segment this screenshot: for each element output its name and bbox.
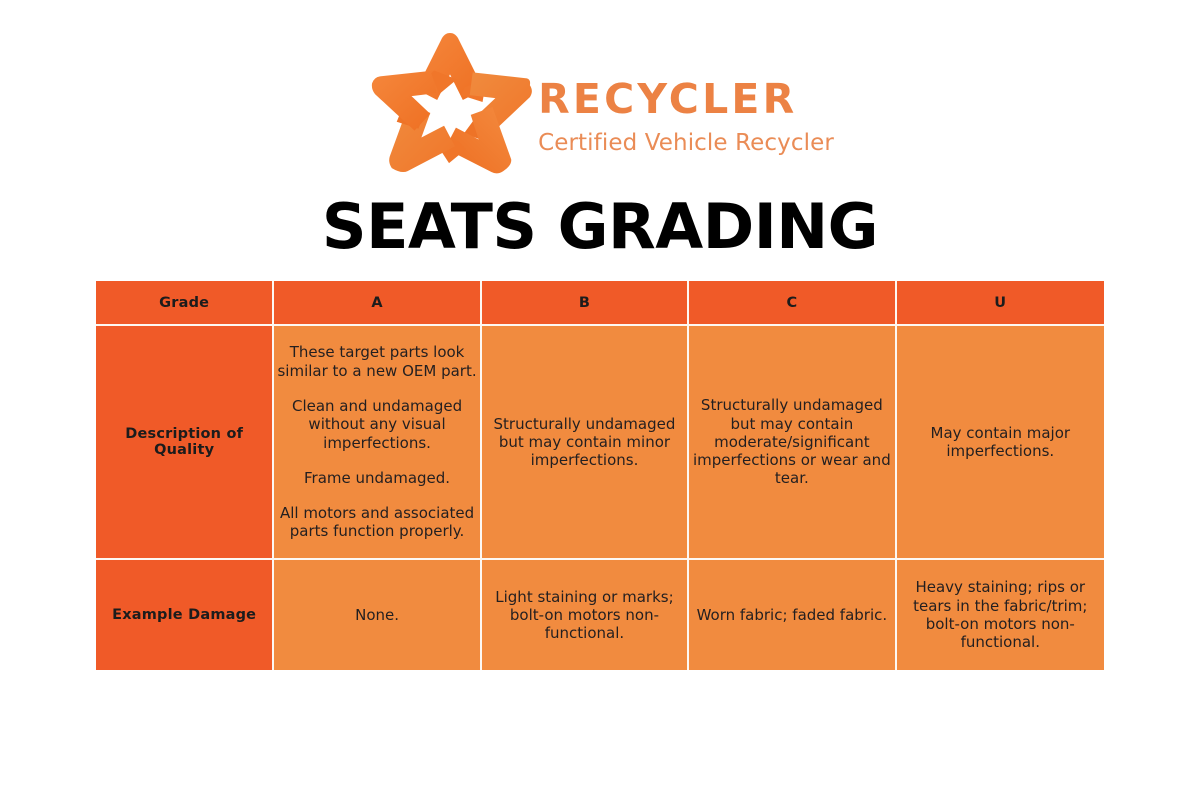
recycling-star-icon: [366, 30, 534, 176]
cell-paragraph: None.: [274, 606, 479, 624]
cell-description-b: Structurally undamaged but may contain m…: [482, 326, 689, 560]
table-row: Example Damage None. Light staining or m…: [96, 560, 1104, 670]
row-label-example-damage: Example Damage: [96, 560, 274, 670]
cell-example-u: Heavy staining; rips or tears in the fab…: [897, 560, 1104, 670]
cell-paragraph: Frame undamaged.: [274, 469, 479, 487]
cell-paragraph: Clean and undamaged without any visual i…: [274, 397, 479, 452]
column-header-grade: Grade: [96, 281, 274, 326]
cell-example-b: Light staining or marks; bolt-on motors …: [482, 560, 689, 670]
column-header-b: B: [482, 281, 689, 326]
cell-paragraph: Worn fabric; faded fabric.: [689, 606, 894, 624]
brand-name: RECYCLER: [538, 79, 834, 120]
column-header-u: U: [897, 281, 1104, 326]
table-header-row: Grade A B C U: [96, 281, 1104, 326]
cell-paragraph: Structurally undamaged but may contain m…: [482, 415, 687, 470]
row-label-description-of-quality: Description of Quality: [96, 326, 274, 560]
cell-paragraph: These target parts look similar to a new…: [274, 343, 479, 380]
column-header-c: C: [689, 281, 896, 326]
cell-paragraph: Light staining or marks; bolt-on motors …: [482, 588, 687, 643]
cell-example-a: None.: [274, 560, 481, 670]
cell-description-u: May contain major imperfections.: [897, 326, 1104, 560]
page-title: SEATS GRADING: [0, 196, 1200, 258]
cell-paragraph: All motors and associated parts function…: [274, 504, 479, 541]
column-header-a: A: [274, 281, 481, 326]
cell-description-a: These target parts look similar to a new…: [274, 326, 481, 560]
cell-description-c: Structurally undamaged but may contain m…: [689, 326, 896, 560]
cell-paragraph: Structurally undamaged but may contain m…: [689, 396, 894, 487]
table-row: Description of Quality These target part…: [96, 326, 1104, 560]
cell-paragraph: May contain major imperfections.: [897, 424, 1104, 461]
brand-logo: RECYCLER Certified Vehicle Recycler: [0, 30, 1200, 176]
cell-example-c: Worn fabric; faded fabric.: [689, 560, 896, 670]
brand-tagline: Certified Vehicle Recycler: [538, 132, 834, 155]
seats-grading-table: Grade A B C U Description of Quality The…: [96, 281, 1104, 670]
cell-paragraph: Heavy staining; rips or tears in the fab…: [897, 578, 1104, 651]
